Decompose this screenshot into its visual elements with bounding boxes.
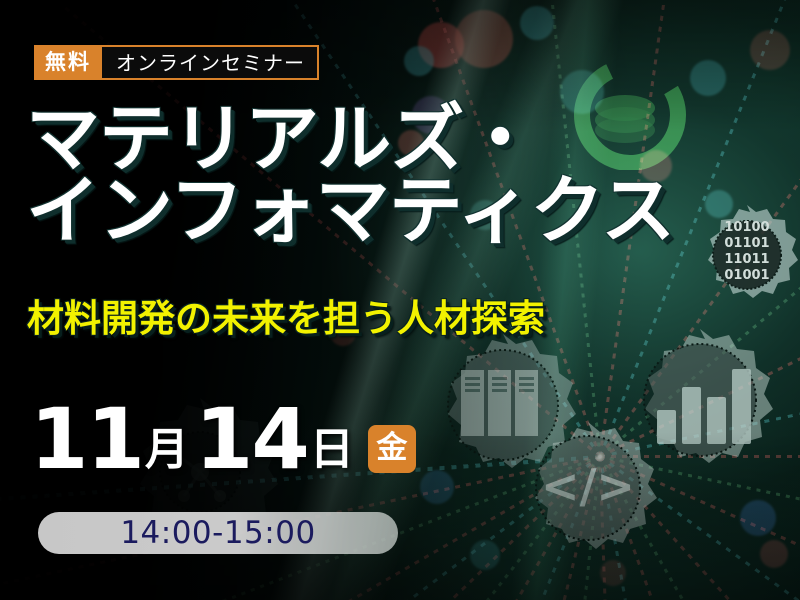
event-month-unit: 月 [143,428,195,475]
badge-free-label: 無料 [34,45,102,80]
event-date: 11 月 14 日 金 [30,404,416,475]
event-day-unit: 日 [308,428,360,475]
page-title: マテリアルズ・ インフォマティクス [26,104,674,248]
seminar-banner: 10100 01101 11011 01001 [0,0,800,600]
event-day-of-week-badge: 金 [368,425,416,473]
event-day-number: 14 [195,404,308,475]
event-time-pill: 14:00-15:00 [38,512,398,554]
seminar-badge-row: 無料 オンラインセミナー [34,45,319,80]
badge-seminar-type-label: オンラインセミナー [102,45,319,80]
page-subtitle: 材料開発の未来を担う人材探索 [27,300,545,337]
event-month-number: 11 [30,404,143,475]
